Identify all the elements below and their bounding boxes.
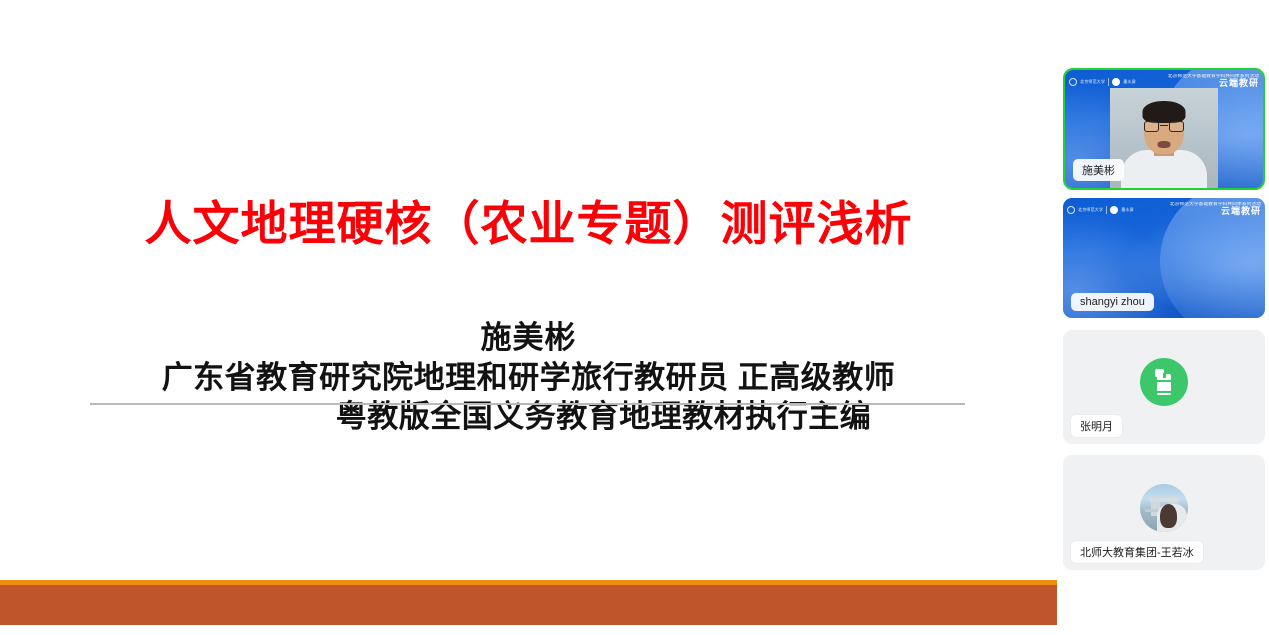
photo-person-hair — [1160, 504, 1177, 528]
avatar — [1140, 358, 1188, 406]
banner-event-title: 云端教研 — [1168, 79, 1259, 88]
glasses-lens-left — [1144, 121, 1159, 132]
university-logo-label: 北京师范大学 — [1080, 79, 1105, 85]
shared-slide-content: 人文地理硬核（农业专题）测评浅析 施美彬 广东省教育研究院地理和研学旅行教研员 … — [0, 0, 1057, 635]
speaker-webcam-feed — [1110, 88, 1218, 188]
glasses-bridge — [1160, 125, 1168, 126]
avatar-photo-image — [1140, 484, 1188, 532]
slide-divider-line — [90, 403, 965, 405]
default-avatar-icon — [1153, 369, 1175, 395]
meeting-screen-share-view: 人文地理硬核（农业专题）测评浅析 施美彬 广东省教育研究院地理和研学旅行教研员 … — [0, 0, 1269, 635]
participant-name-label: shangyi zhou — [1071, 293, 1154, 311]
university-logo-label: 北京师范大学 — [1078, 207, 1103, 213]
participant-tile-shangyi-zhou[interactable]: 北京师范大学 墨水屏 北京师范大学基础教育学科共同体系列活动 云端教研 shan… — [1063, 198, 1265, 318]
participant-video-strip[interactable]: 北京师范大学 墨水屏 北京师范大学基础教育学科共同体系列活动 云端教研 — [1057, 0, 1269, 635]
logo-divider — [1106, 206, 1107, 214]
avatar-glyph-line-top — [1157, 380, 1171, 382]
avatar-glyph-line-bottom — [1157, 391, 1171, 393]
slide-banner: 北京师范大学 墨水屏 北京师范大学基础教育学科共同体系列活动 云端教研 — [1065, 70, 1263, 93]
organizer-logo-group: 北京师范大学 墨水屏 — [1067, 206, 1134, 214]
slide-title: 人文地理硬核（农业专题）测评浅析 — [0, 198, 1057, 250]
sponsor-logo-icon — [1112, 78, 1120, 86]
banner-titles: 北京师范大学基础教育学科共同体系列活动 云端教研 — [1168, 74, 1259, 88]
slide-accent-bar — [0, 585, 1057, 625]
participant-tile-wangruobing[interactable]: 北师大教育集团-王若冰 — [1063, 455, 1265, 570]
participant-tile-zhangmingyue[interactable]: 张明月 — [1063, 330, 1265, 444]
banner-titles: 北京师范大学基础教育学科共同体系列活动 云端教研 — [1170, 202, 1261, 216]
banner-event-title: 云端教研 — [1170, 207, 1261, 216]
logo-divider — [1108, 78, 1109, 86]
participant-name-label: 施美彬 — [1073, 159, 1124, 181]
sponsor-logo-label: 墨水屏 — [1123, 79, 1136, 85]
sponsor-logo-label: 墨水屏 — [1121, 207, 1134, 213]
participant-tile-shimeibin[interactable]: 北京师范大学 墨水屏 北京师范大学基础教育学科共同体系列活动 云端教研 — [1063, 68, 1265, 190]
university-logo-icon — [1069, 78, 1077, 86]
speaker-mouth — [1158, 141, 1171, 148]
presenter-affiliation: 广东省教育研究院地理和研学旅行教研员 正高级教师 — [0, 358, 1057, 398]
slide-subtitle-block: 施美彬 广东省教育研究院地理和研学旅行教研员 正高级教师 粤教版全国义务教育地理… — [0, 318, 1057, 437]
slide-banner: 北京师范大学 墨水屏 北京师范大学基础教育学科共同体系列活动 云端教研 — [1063, 198, 1265, 221]
avatar-glyph-notch — [1163, 373, 1166, 378]
university-logo-icon — [1067, 206, 1075, 214]
speaker-glasses-icon — [1144, 121, 1184, 132]
participant-name-label: 张明月 — [1071, 415, 1122, 437]
sponsor-logo-icon — [1110, 206, 1118, 214]
avatar — [1140, 484, 1188, 532]
presenter-name: 施美彬 — [0, 318, 1057, 358]
photo-tower-span-top — [1150, 498, 1179, 502]
participant-name-label: 北师大教育集团-王若冰 — [1071, 541, 1203, 563]
glasses-lens-right — [1169, 121, 1184, 132]
speaker-hair — [1143, 101, 1186, 123]
organizer-logo-group: 北京师范大学 墨水屏 — [1069, 78, 1136, 86]
